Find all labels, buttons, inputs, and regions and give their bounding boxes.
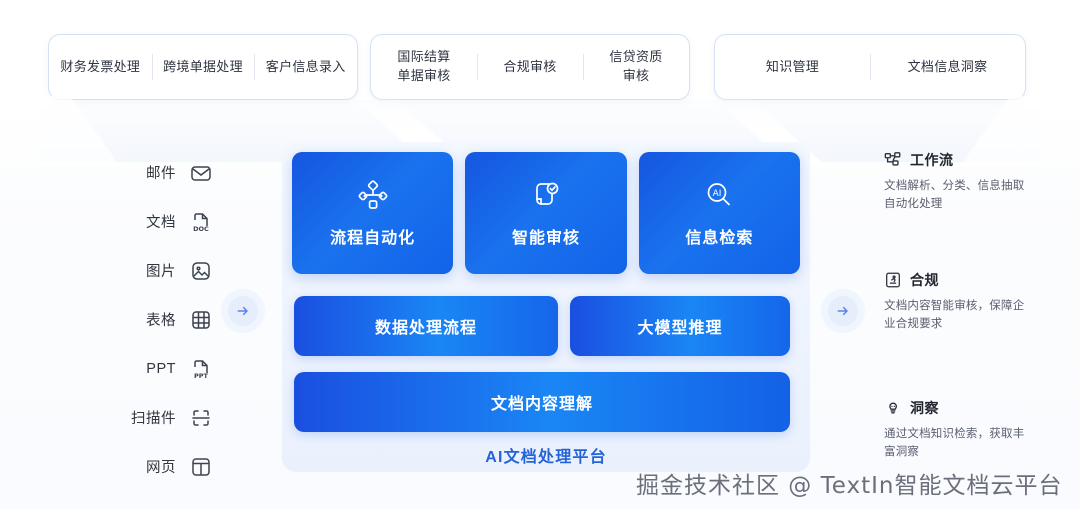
scenario-box-knowledge[interactable]: 知识管理 文档信息洞察	[714, 34, 1026, 100]
pill-label: 文档内容理解	[491, 390, 593, 414]
ai-search-icon: AI	[702, 178, 736, 212]
benefit-header: 工作流	[884, 150, 1036, 170]
input-item-table[interactable]: 表格	[118, 295, 214, 344]
benefit-insight: 洞察 通过文档知识检索，获取丰富洞察	[884, 398, 1036, 462]
watermark-text: 掘金技术社区 @ TextIn智能文档云平台	[636, 466, 1063, 500]
scenario-item[interactable]: 文档信息洞察	[870, 58, 1025, 77]
document-check-icon	[529, 178, 563, 212]
benefit-desc: 文档内容智能审核，保障企业合规要求	[884, 298, 1036, 334]
benefit-desc: 文档解析、分类、信息抽取自动化处理	[884, 178, 1036, 214]
pill-data-pipeline[interactable]: 数据处理流程	[294, 296, 558, 356]
scenario-item[interactable]: 国际结算 单据审核	[371, 48, 477, 86]
feature-card-process-automation[interactable]: 流程自动化	[292, 152, 453, 274]
input-item-image[interactable]: 图片	[118, 246, 214, 295]
benefit-desc: 通过文档知识检索，获取丰富洞察	[884, 426, 1036, 462]
scenario-item[interactable]: 信贷资质 审核	[583, 48, 689, 86]
pill-label: 大模型推理	[637, 314, 722, 338]
scenario-row: 财务发票处理 跨境单据处理 客户信息录入 国际结算 单据审核 合规审核 信贷资质…	[48, 34, 1032, 100]
scenario-box-finance[interactable]: 财务发票处理 跨境单据处理 客户信息录入	[48, 34, 358, 100]
benefit-title: 合规	[910, 270, 939, 290]
benefit-compliance: 合规 文档内容智能审核，保障企业合规要求	[884, 270, 1036, 334]
feature-card-info-retrieval[interactable]: AI 信息检索	[639, 152, 800, 274]
feature-card-label: 流程自动化	[330, 224, 415, 248]
image-icon	[188, 258, 214, 284]
input-item-document[interactable]: 文档 DOC	[118, 197, 214, 246]
input-item-webpage[interactable]: 网页	[118, 442, 214, 491]
arrow-right-icon-right	[828, 296, 858, 326]
svg-text:PPT: PPT	[194, 372, 209, 380]
benefit-header: 合规	[884, 270, 1036, 290]
scenario-box-banking[interactable]: 国际结算 单据审核 合规审核 信贷资质 审核	[370, 34, 690, 100]
workflow-icon	[884, 151, 902, 169]
insight-icon	[884, 399, 902, 417]
input-item-scan[interactable]: 扫描件	[118, 393, 214, 442]
doc-icon: DOC	[188, 209, 214, 235]
scenario-item[interactable]: 财务发票处理	[49, 58, 152, 77]
benefit-title: 工作流	[910, 150, 954, 170]
feature-card-smart-review[interactable]: 智能审核	[465, 152, 626, 274]
mail-icon	[188, 160, 214, 186]
ppt-icon: PPT	[188, 356, 214, 382]
compliance-icon	[884, 271, 902, 289]
benefit-workflow: 工作流 文档解析、分类、信息抽取自动化处理	[884, 150, 1036, 214]
arrow-right-icon-left	[228, 296, 258, 326]
table-icon	[188, 307, 214, 333]
input-item-label: 网页	[146, 456, 176, 477]
svg-text:AI: AI	[713, 189, 722, 199]
platform-title: AI文档处理平台	[282, 443, 810, 467]
scenario-item[interactable]: 跨境单据处理	[152, 58, 255, 77]
infographic-root: 财务发票处理 跨境单据处理 客户信息录入 国际结算 单据审核 合规审核 信贷资质…	[0, 0, 1080, 509]
scenario-item[interactable]: 合规审核	[477, 58, 583, 77]
input-item-label: 图片	[146, 260, 176, 281]
scenario-item[interactable]: 客户信息录入	[254, 58, 357, 77]
scenario-item[interactable]: 知识管理	[715, 58, 870, 77]
input-item-label: 邮件	[146, 162, 176, 183]
pill-label: 数据处理流程	[375, 314, 477, 338]
feature-card-label: 信息检索	[685, 224, 753, 248]
feature-card-label: 智能审核	[512, 224, 580, 248]
feature-cards-row: 流程自动化 智能审核 AI 信息检索	[292, 152, 800, 274]
pill-document-understanding[interactable]: 文档内容理解	[294, 372, 790, 432]
input-item-ppt[interactable]: PPT PPT	[118, 344, 214, 393]
input-item-label: 文档	[146, 211, 176, 232]
input-item-mail[interactable]: 邮件	[118, 148, 214, 197]
benefit-header: 洞察	[884, 398, 1036, 418]
platform-mid-row: 数据处理流程 大模型推理	[294, 296, 790, 356]
pill-llm-inference[interactable]: 大模型推理	[570, 296, 790, 356]
input-item-label: 表格	[146, 309, 176, 330]
input-type-list: 邮件 文档 DOC 图片	[118, 148, 214, 491]
svg-text:DOC: DOC	[193, 225, 209, 233]
scan-icon	[188, 405, 214, 431]
webpage-icon	[188, 454, 214, 480]
input-item-label: PPT	[146, 361, 176, 377]
input-item-label: 扫描件	[131, 407, 176, 428]
workflow-node-icon	[356, 178, 390, 212]
benefit-title: 洞察	[910, 398, 939, 418]
